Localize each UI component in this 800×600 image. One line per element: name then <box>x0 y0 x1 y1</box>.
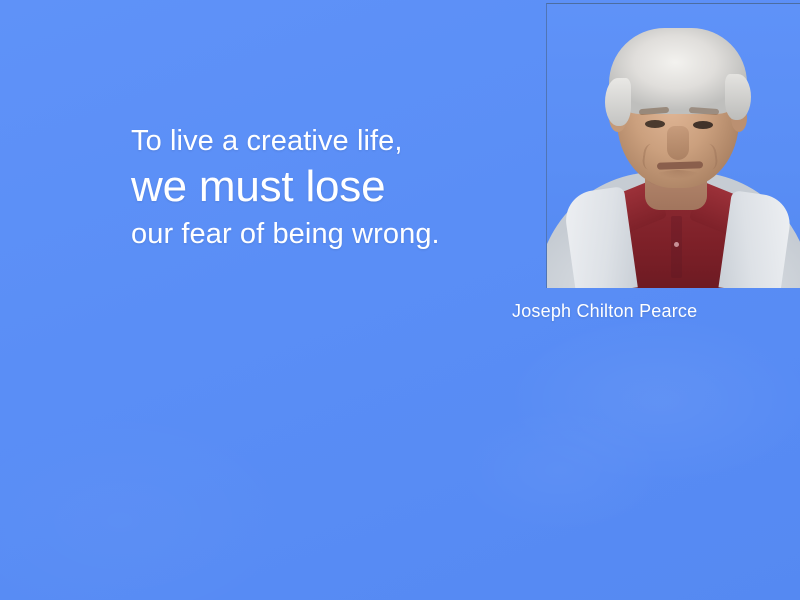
portrait-subject <box>547 4 800 288</box>
subject-shirt-placket <box>671 216 682 278</box>
subject-eye-right <box>693 121 713 129</box>
quote-text-block: To live a creative life, we must lose ou… <box>131 119 531 256</box>
subject-shirt-button <box>674 242 679 247</box>
subject-chin-shadow <box>649 170 707 192</box>
portrait-photo <box>546 3 800 288</box>
subject-eye-left <box>645 120 665 128</box>
quote-slide: To live a creative life, we must lose ou… <box>0 0 800 600</box>
subject-hair-side-right <box>725 74 751 120</box>
author-attribution: Joseph Chilton Pearce <box>512 301 697 322</box>
quote-line-1: To live a creative life, <box>131 119 531 163</box>
quote-line-2-emphasis: we must lose <box>131 161 531 213</box>
subject-nose <box>667 126 689 160</box>
subject-hair-side-left <box>605 78 631 126</box>
quote-line-3: our fear of being wrong. <box>131 212 531 256</box>
subject-jacket-lapel-right <box>718 190 793 288</box>
